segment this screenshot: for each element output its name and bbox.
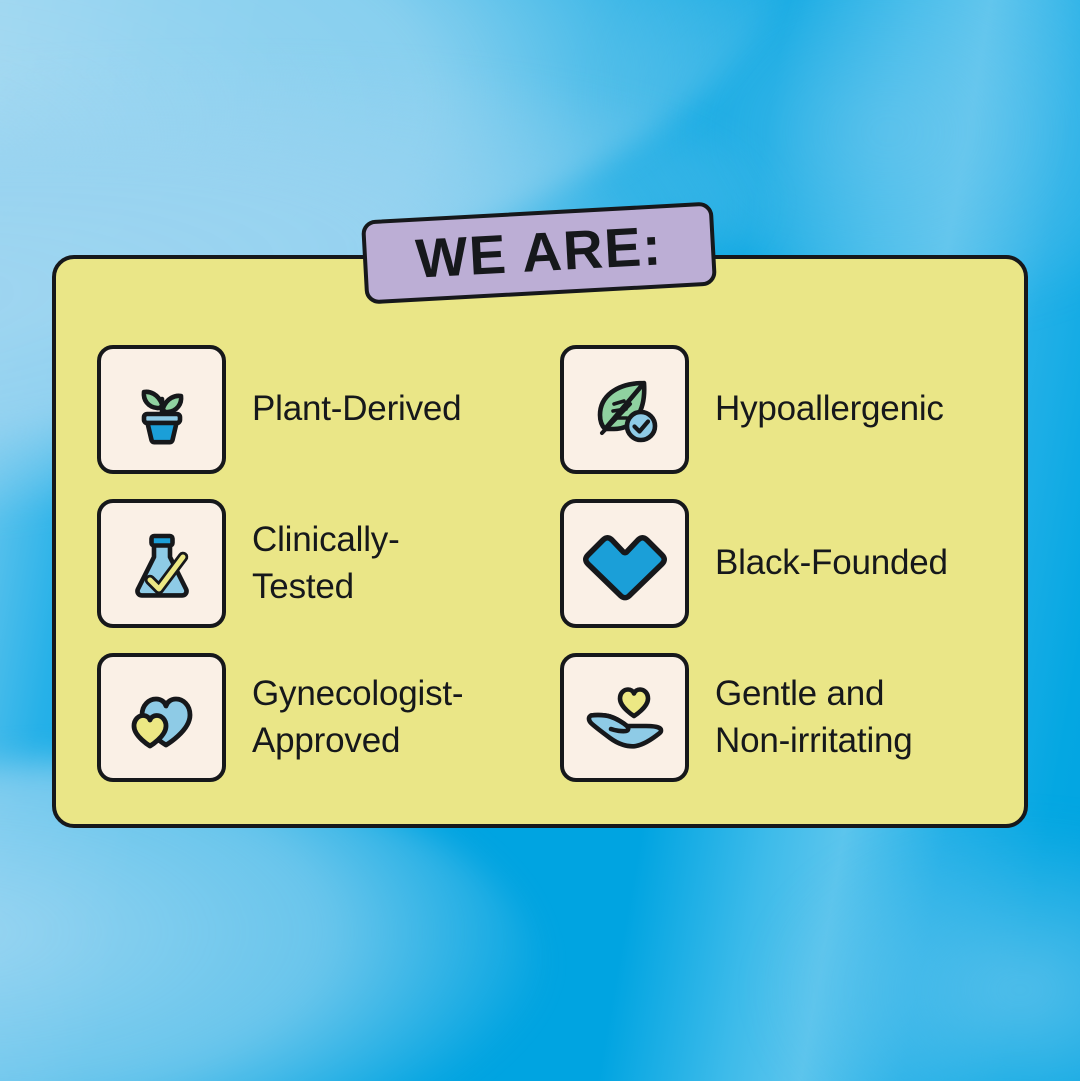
- icon-tile: [560, 345, 689, 474]
- feature-item-plant-derived: Plant-Derived: [97, 345, 560, 474]
- feature-item-gynecologist-approved: Gynecologist- Approved: [97, 653, 560, 782]
- feature-label: Black-Founded: [715, 540, 948, 586]
- double-heart-icon: [120, 683, 204, 753]
- potted-plant-icon: [124, 372, 200, 448]
- icon-tile: [97, 345, 226, 474]
- heart-icon: [583, 527, 667, 601]
- page-title: WE ARE:: [414, 218, 663, 286]
- feature-grid: Plant-Derived Hypoaller: [97, 345, 987, 782]
- icon-tile: [97, 499, 226, 628]
- feature-item-clinically-tested: Clinically- Tested: [97, 499, 560, 628]
- hand-heart-icon: [582, 682, 668, 754]
- feature-label: Gentle and Non-irritating: [715, 671, 913, 763]
- feature-label: Clinically- Tested: [252, 517, 400, 609]
- feature-item-gentle-non-irritating: Gentle and Non-irritating: [560, 653, 987, 782]
- feature-item-hypoallergenic: Hypoallergenic: [560, 345, 987, 474]
- icon-tile: [560, 653, 689, 782]
- feature-label: Gynecologist- Approved: [252, 671, 463, 763]
- feature-label: Plant-Derived: [252, 386, 461, 432]
- icon-tile: [560, 499, 689, 628]
- feature-label: Hypoallergenic: [715, 386, 944, 432]
- icon-tile: [97, 653, 226, 782]
- leaf-check-icon: [586, 371, 664, 449]
- flask-check-icon: [125, 527, 199, 601]
- promo-graphic: WE ARE:: [0, 0, 1080, 1081]
- feature-item-black-founded: Black-Founded: [560, 499, 987, 628]
